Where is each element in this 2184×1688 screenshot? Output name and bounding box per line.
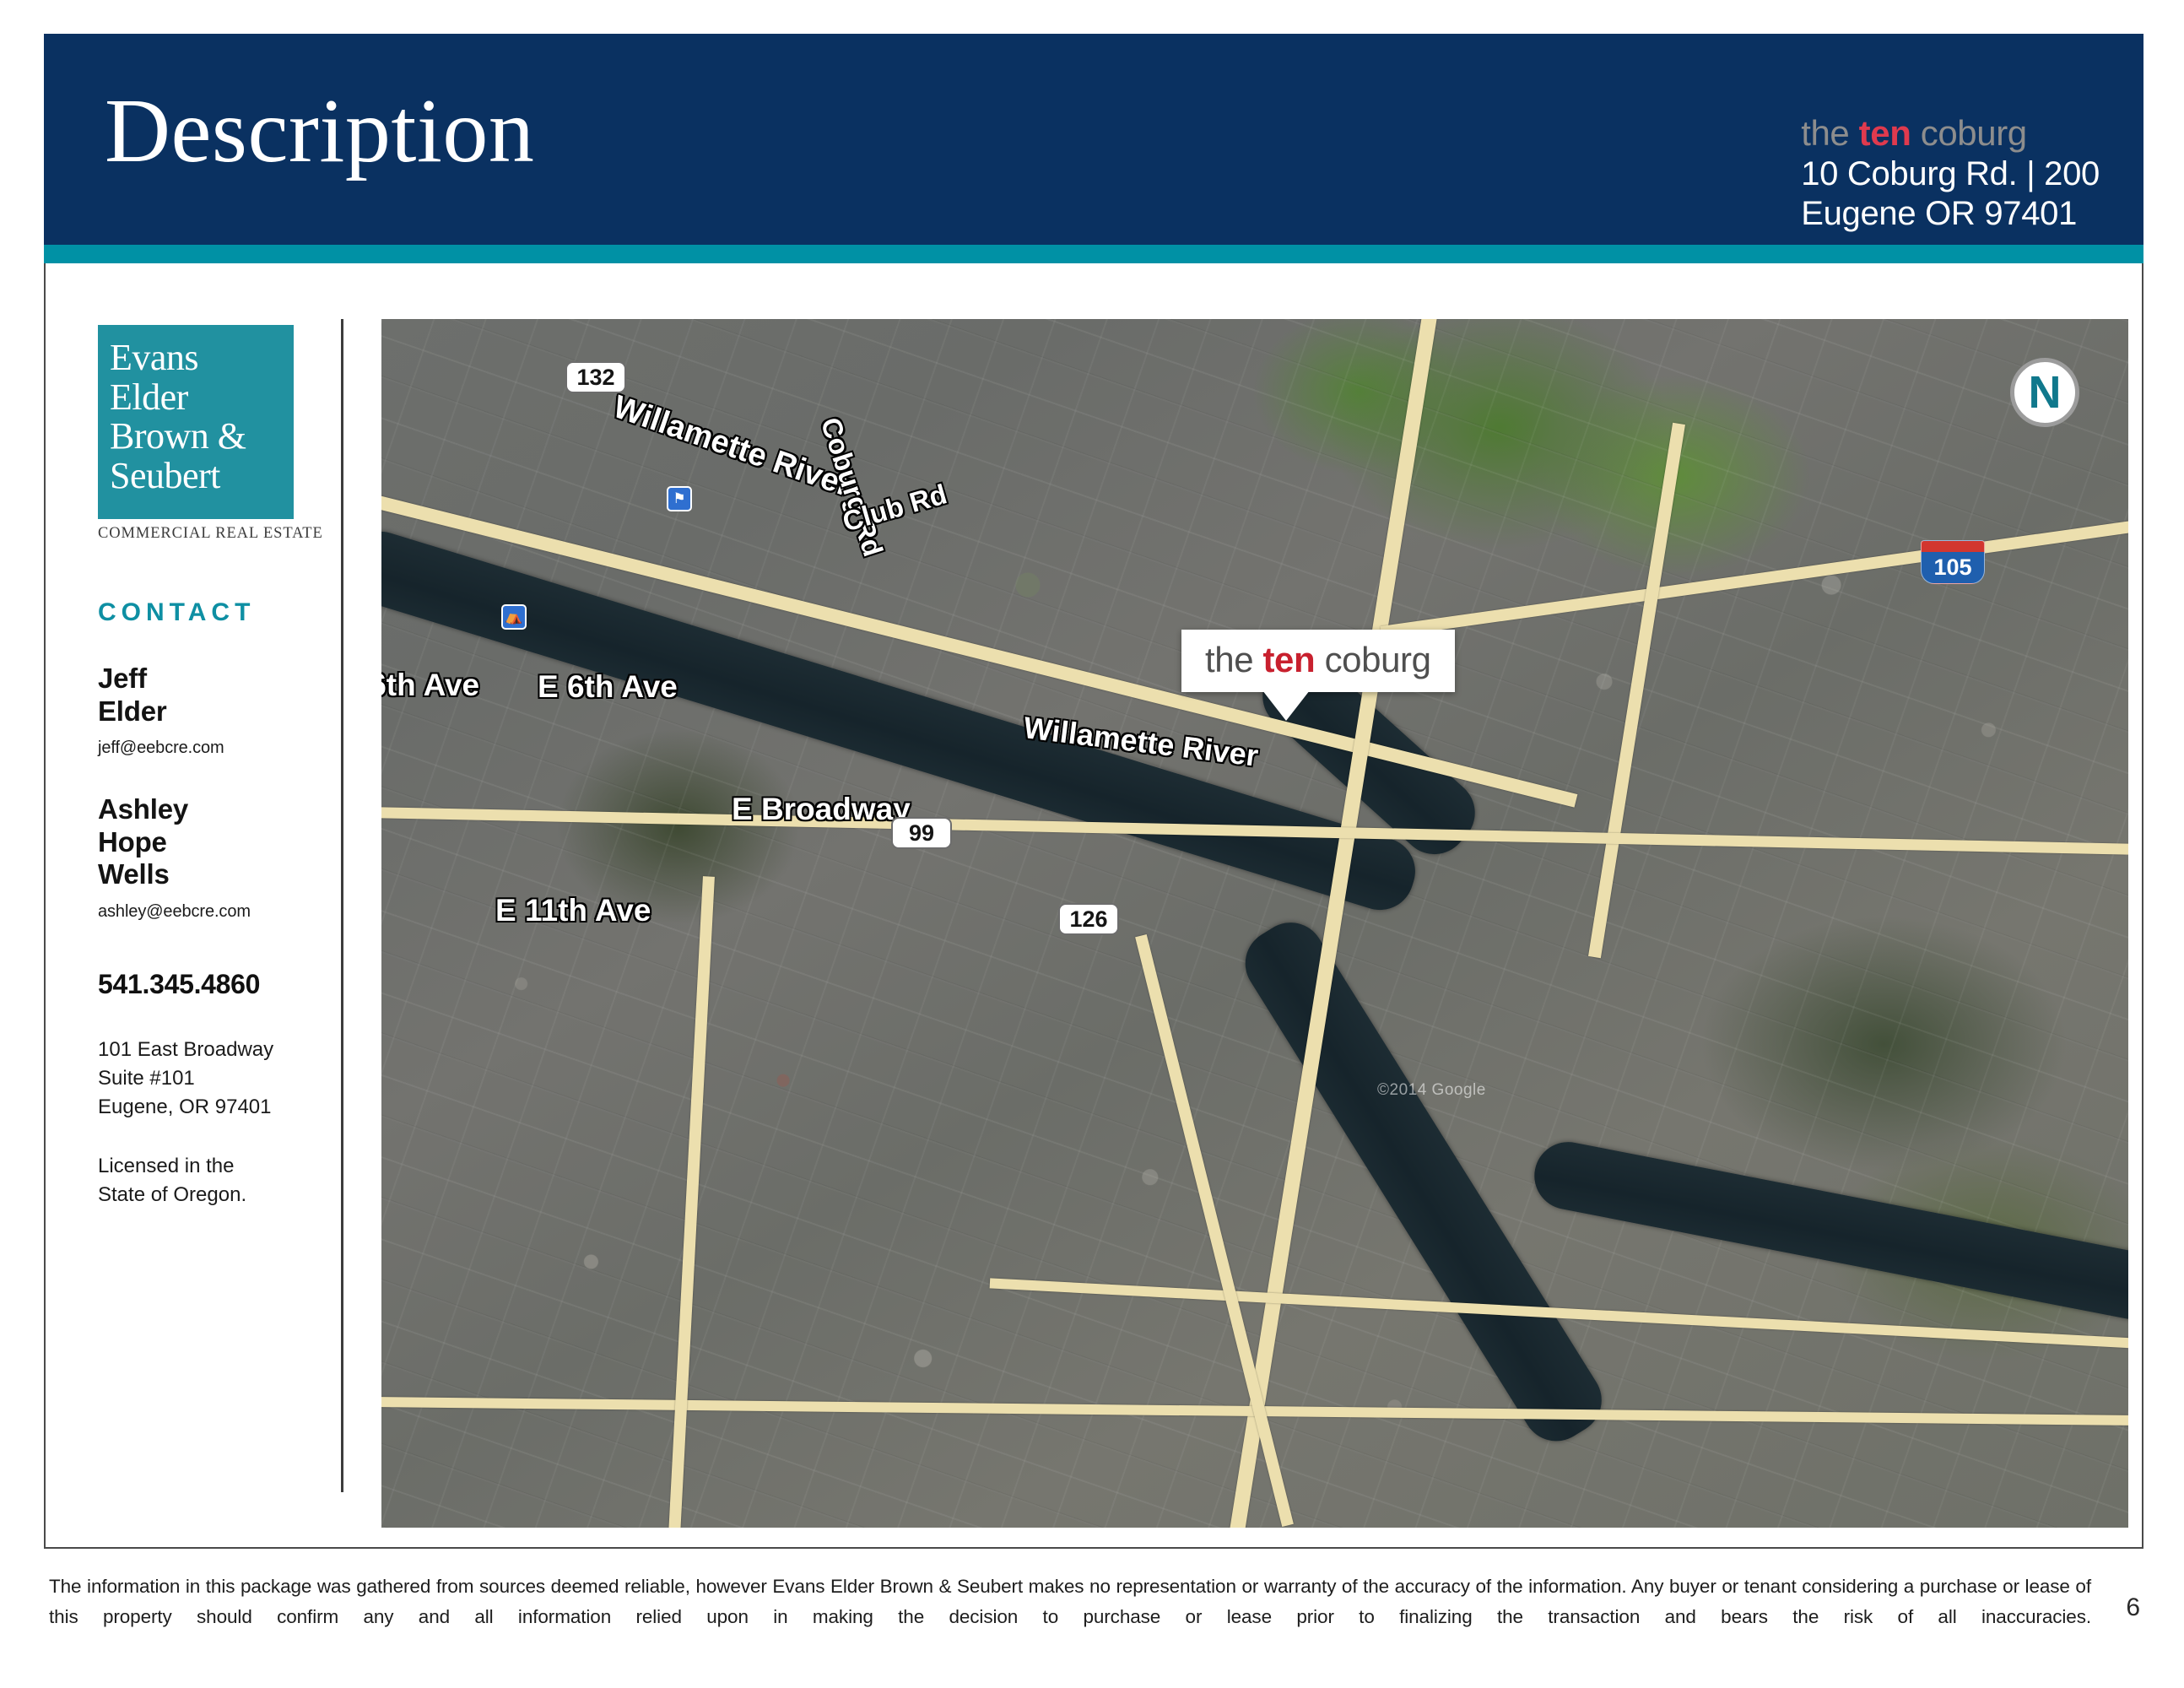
page-title: Description [105,86,534,177]
aerial-map[interactable]: oa Willamette River Willamette River Cob… [381,319,2128,1528]
contact-name-1-line-2: Elder [98,695,343,728]
callout-pointer [1262,690,1310,721]
contact-name-2-line-3: Wells [98,858,343,891]
map-label-w-6th-ave: W 6th Ave [381,668,479,703]
contact-email-2[interactable]: ashley@eebcre.com [98,902,343,922]
contact-phone[interactable]: 541.345.4860 [98,969,343,1000]
footer-disclaimer: The information in this package was gath… [49,1572,2091,1633]
map-label-e-6th-ave: E 6th Ave [538,669,678,705]
office-address-line-1: 101 East Broadway [98,1036,343,1064]
header-property-block: the ten coburg 10 Coburg Rd. | 200 Eugen… [1801,115,2100,234]
logo-line-2: Elder [110,378,282,418]
callout-brand-text: the ten coburg [1205,641,1431,679]
map-attribution: ©2014 Google [1377,1081,1486,1100]
point-of-interest-icon-2[interactable]: ⚑ [667,486,692,511]
map-label-e-broadway: E Broadway [732,792,911,827]
property-location-callout: the ten coburg [1181,630,1455,692]
property-brand-logo: the ten coburg [1801,115,2100,153]
brand-the: the [1801,113,1849,153]
company-logo: Evans Elder Brown & Seubert [98,325,294,519]
callout-coburg: coburg [1325,640,1431,679]
brand-coburg: coburg [1921,113,2027,153]
brand-ten: ten [1859,113,1911,153]
brochure-page: Description the ten coburg 10 Coburg Rd.… [0,0,2184,1688]
page-header: Description the ten coburg 10 Coburg Rd.… [44,34,2143,245]
license-line-2: State of Oregon. [98,1181,343,1209]
license-notice: Licensed in the State of Oregon. [98,1152,343,1209]
header-accent-stripe [44,245,2143,263]
contact-heading: CONTACT [98,598,343,627]
disclaimer-text: The information in this package was gath… [49,1572,2091,1633]
point-of-interest-icon-1[interactable]: ⛺ [501,604,527,630]
logo-line-4: Seubert [110,457,282,496]
office-address-line-3: Eugene, OR 97401 [98,1093,343,1122]
office-address: 101 East Broadway Suite #101 Eugene, OR … [98,1036,343,1122]
contact-name-1-line-1: Jeff [98,663,343,695]
sidebar-divider [341,319,343,1492]
page-number: 6 [2126,1593,2140,1622]
property-address-line-1: 10 Coburg Rd. | 200 [1801,154,2100,194]
contact-person-1: Jeff Elder jeff@eebcre.com [98,663,343,758]
office-address-line-2: Suite #101 [98,1064,343,1093]
contact-name-2-line-2: Hope [98,826,343,859]
highway-shield-132: 132 [565,361,626,393]
callout-the: the [1205,640,1253,679]
license-line-1: Licensed in the [98,1152,343,1181]
north-compass-icon: N [2010,358,2079,427]
contact-email-1[interactable]: jeff@eebcre.com [98,738,343,758]
highway-shield-126: 126 [1058,903,1119,935]
contact-sidebar: Evans Elder Brown & Seubert COMMERCIAL R… [98,325,343,1209]
contact-name-2-line-1: Ashley [98,793,343,826]
logo-subtitle: COMMERCIAL REAL ESTATE [98,525,304,543]
contact-person-2: Ashley Hope Wells ashley@eebcre.com [98,793,343,922]
callout-ten: ten [1262,640,1315,679]
property-address-line-2: Eugene OR 97401 [1801,194,2100,234]
logo-line-3: Brown & [110,417,282,457]
logo-line-1: Evans [110,338,282,378]
highway-shield-105-east: 105 [1921,540,1985,584]
highway-shield-99: 99 [891,817,952,849]
map-label-e-11th-ave-2: E 11th Ave [495,893,651,928]
